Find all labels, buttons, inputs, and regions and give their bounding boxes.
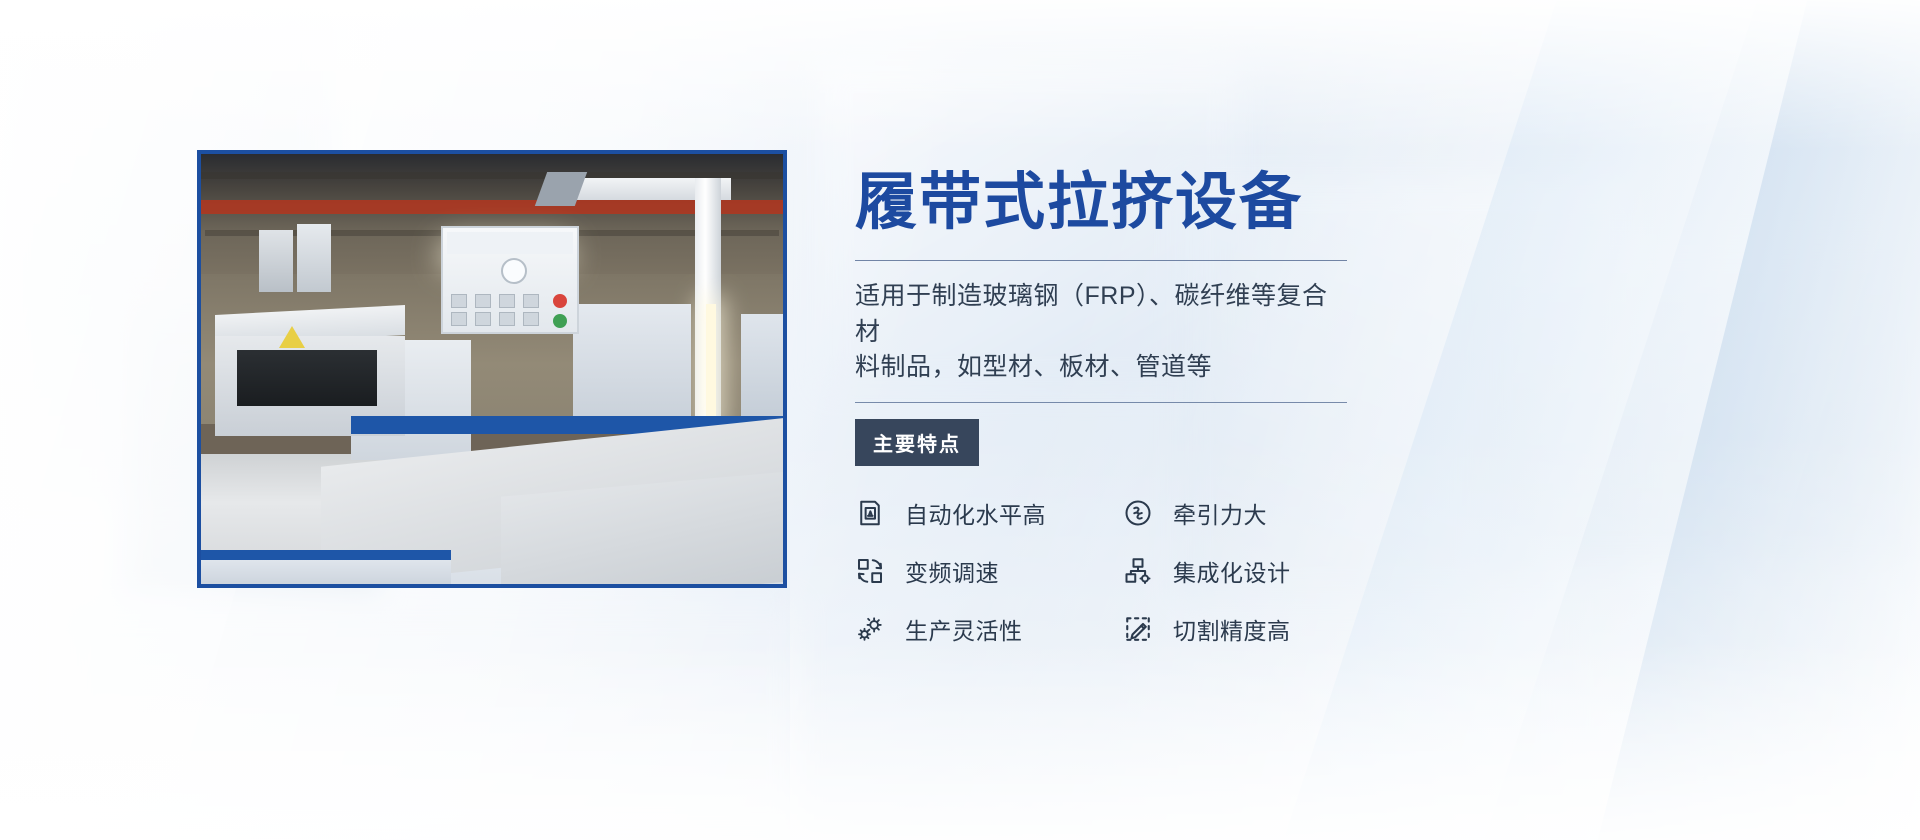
- feature-label: 牵引力大: [1173, 496, 1267, 530]
- frequency-icon: [855, 556, 885, 586]
- cutting-icon: [1123, 614, 1153, 644]
- feature-item-integration: 集成化设计: [1123, 554, 1391, 588]
- traction-icon: [1123, 498, 1153, 528]
- feature-label: 变频调速: [905, 554, 999, 588]
- status-badge: 主要特点: [855, 419, 979, 466]
- feature-label: 自动化水平高: [905, 496, 1046, 530]
- feature-item-traction: 牵引力大: [1123, 496, 1391, 530]
- banner-content: 履带式拉挤设备 适用于制造玻璃钢（FRP）、碳纤维等复合材 料制品，如型材、板材…: [855, 150, 1355, 646]
- title-divider: [855, 260, 1347, 261]
- background-bottom-fade: [0, 640, 1920, 840]
- feature-list: 自动化水平高 牵引力大: [855, 496, 1355, 646]
- product-photo: [197, 150, 787, 588]
- feature-item-automation: 自动化水平高: [855, 496, 1123, 530]
- feature-item-gears: 生产灵活性: [855, 612, 1123, 646]
- feature-label: 集成化设计: [1173, 554, 1291, 588]
- automation-icon: [855, 498, 885, 528]
- feature-item-frequency: 变频调速: [855, 554, 1123, 588]
- subtitle-line-2: 料制品，如型材、板材、管道等: [855, 350, 1347, 386]
- page-title: 履带式拉挤设备: [855, 172, 1355, 234]
- feature-label: 生产灵活性: [905, 612, 1023, 646]
- product-photo-image: [201, 154, 783, 584]
- feature-label: 切割精度高: [1173, 612, 1291, 646]
- background-top-fade: [0, 0, 1920, 150]
- gears-icon: [855, 614, 885, 644]
- subtitle-divider: [855, 402, 1347, 403]
- feature-item-cutting: 切割精度高: [1123, 612, 1391, 646]
- integration-icon: [1123, 556, 1153, 586]
- subtitle: 适用于制造玻璃钢（FRP）、碳纤维等复合材 料制品，如型材、板材、管道等: [855, 279, 1347, 386]
- subtitle-line-1: 适用于制造玻璃钢（FRP）、碳纤维等复合材: [855, 279, 1347, 350]
- product-banner: 履带式拉挤设备 适用于制造玻璃钢（FRP）、碳纤维等复合材 料制品，如型材、板材…: [0, 0, 1920, 840]
